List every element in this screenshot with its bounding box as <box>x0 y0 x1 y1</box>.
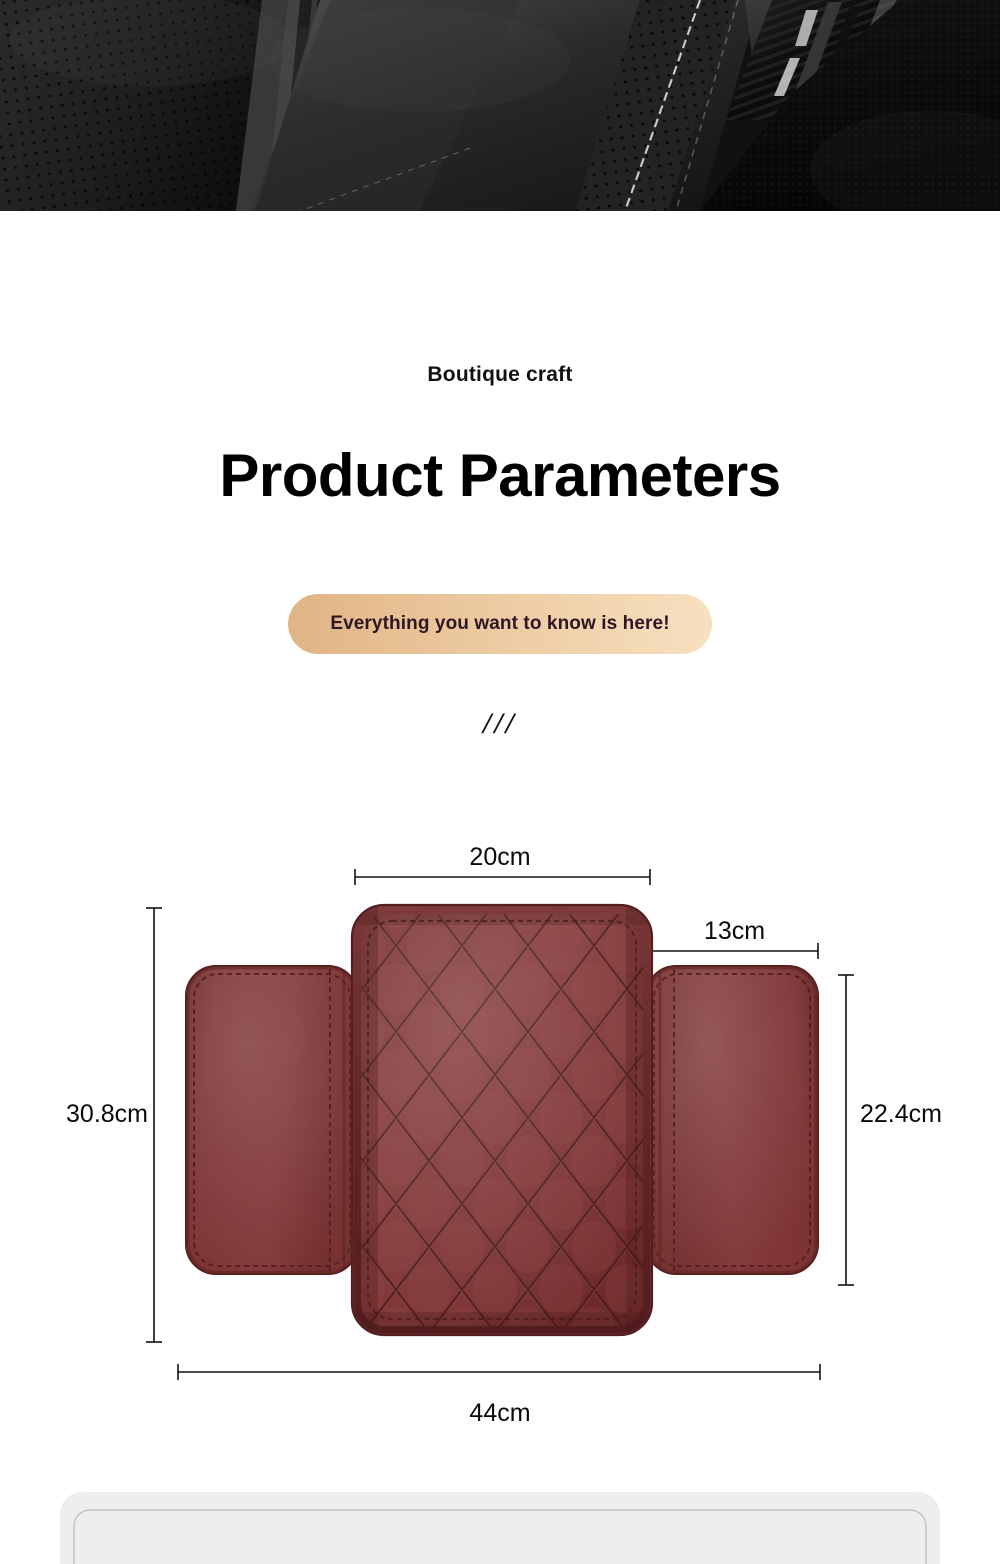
dimension-label-top-width: 20cm <box>0 843 1000 872</box>
dimension-label-pad-height: 22.4cm <box>860 1100 980 1129</box>
dimension-label-total-width: 44cm <box>0 1399 1000 1428</box>
dimension-label-total-height: 30.8cm <box>58 1100 148 1129</box>
dimension-label-flap-width: 13cm <box>651 917 818 946</box>
dimension-diagram: 20cm 13cm 30.8cm 22.4cm 44cm <box>0 0 1000 1564</box>
product-parameters-page: Boutique craft Product Parameters Everyt… <box>0 0 1000 1564</box>
